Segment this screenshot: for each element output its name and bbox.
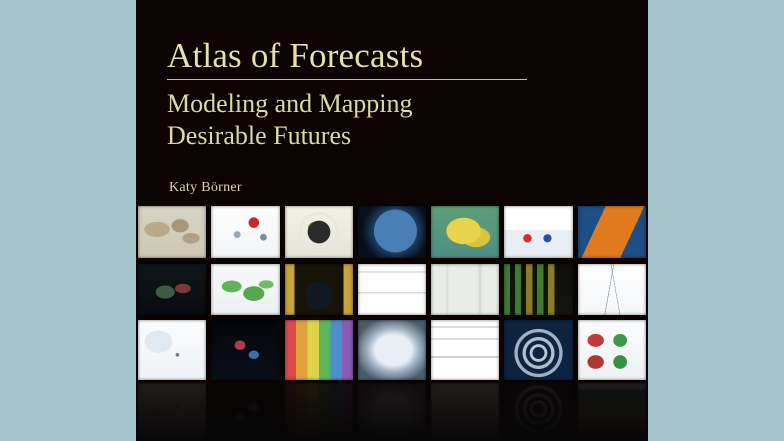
thumb-reflection-spiral-visualization	[504, 383, 572, 441]
screenshot-canvas: Atlas of Forecasts Modeling and Mapping …	[0, 0, 784, 441]
thumb-reflection-night-lights-map	[211, 383, 279, 441]
wall-row-reflection	[136, 383, 648, 441]
thumb-infographic-sheet	[358, 264, 426, 315]
thumb-reflection-text-document	[431, 383, 499, 441]
thumb-text-document	[431, 320, 499, 380]
thumb-circular-diagram	[285, 206, 353, 258]
thumb-dark-bar-poster	[504, 264, 572, 315]
book-subtitle: Modeling and Mapping Desirable Futures	[167, 88, 617, 152]
wall-row-2	[136, 264, 648, 315]
book-title: Atlas of Forecasts	[167, 38, 617, 73]
book-author: Katy Börner	[169, 180, 242, 196]
thumb-old-world-map	[138, 206, 206, 258]
thumb-reflection-heat-grid	[578, 383, 646, 441]
thumbnail-wall	[136, 206, 648, 441]
thumb-night-lights-map	[211, 320, 279, 380]
thumb-reflection-network-science-map	[138, 383, 206, 441]
wall-row-3	[136, 320, 648, 380]
thumb-earth-globe	[358, 206, 426, 258]
thumb-orange-blue-poster	[578, 206, 646, 258]
thumb-green-world-map	[211, 264, 279, 315]
thumb-rainbow-flow-chart	[285, 320, 353, 380]
thumb-network-science-map	[138, 320, 206, 380]
thumb-cloud-render	[358, 320, 426, 380]
wall-row-1	[136, 206, 648, 258]
thumb-spiral-visualization	[504, 320, 572, 380]
thumb-reflection-cloud-render	[358, 383, 426, 441]
thumb-red-blue-chart	[504, 206, 572, 258]
thumb-reflection-rainbow-flow-chart	[285, 383, 353, 441]
thumb-yellow-network-map	[431, 206, 499, 258]
title-divider-rule	[167, 79, 527, 80]
thumb-technical-diagram	[431, 264, 499, 315]
book-cover: Atlas of Forecasts Modeling and Mapping …	[136, 0, 648, 441]
thumb-person-with-globe	[285, 264, 353, 315]
thumb-white-cluster-map	[211, 206, 279, 258]
cover-title-block: Atlas of Forecasts Modeling and Mapping …	[167, 38, 617, 152]
thumb-dark-aerial	[138, 264, 206, 315]
thumb-red-green-grid	[578, 320, 646, 380]
thumb-line-flow-map	[578, 264, 646, 315]
